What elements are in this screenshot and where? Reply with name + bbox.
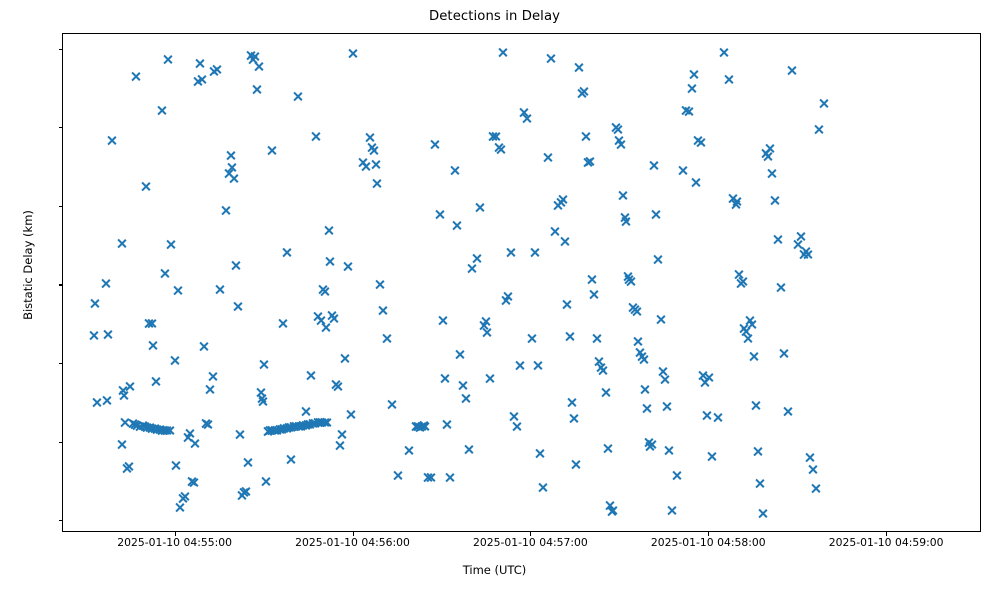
scatter-point [626, 276, 637, 287]
scatter-point [324, 256, 335, 267]
scatter-point [557, 194, 568, 205]
scatter-point [467, 263, 478, 274]
scatter-point [659, 374, 670, 385]
x-tick-label: 2025-01-10 04:56:00 [295, 537, 410, 548]
scatter-point [293, 91, 304, 102]
scatter-point [144, 422, 155, 433]
scatter-point [180, 491, 191, 502]
scatter-point [328, 313, 339, 324]
scatter-point [582, 157, 593, 168]
x-axis-label: Time (UTC) [0, 563, 989, 577]
scatter-point [778, 348, 789, 359]
scatter-point [146, 318, 157, 329]
scatter-point [490, 131, 501, 142]
scatter-point [439, 373, 450, 384]
scatter-point [300, 420, 311, 431]
scatter-point [320, 322, 331, 333]
scatter-point [317, 417, 328, 428]
scatter-point [310, 131, 321, 142]
scatter-point [742, 333, 753, 344]
scatter-point [561, 299, 572, 310]
scatter-point [264, 425, 275, 436]
scatter-point [671, 470, 682, 481]
scatter-point [521, 113, 532, 124]
scatter-point [228, 173, 239, 184]
scatter-point [295, 421, 306, 432]
scatter-point [598, 365, 609, 376]
scatter-point [281, 247, 292, 258]
scatter-point [159, 268, 170, 279]
scatter-point [343, 261, 354, 272]
scatter-point [600, 387, 611, 398]
scatter-point [246, 50, 257, 61]
scatter-point [638, 354, 649, 365]
scatter-point [301, 406, 312, 417]
scatter-point [339, 353, 350, 364]
scatter-point [154, 424, 165, 435]
scatter-point [89, 330, 100, 341]
scatter-point [480, 316, 491, 327]
scatter-point [141, 181, 152, 192]
scatter-point [730, 199, 741, 210]
scatter-point [226, 162, 237, 173]
scatter-point [683, 106, 694, 117]
scatter-point [478, 320, 489, 331]
scatter-point [699, 377, 710, 388]
scatter-point [345, 409, 356, 420]
x-tick-label: 2025-01-10 04:55:00 [117, 537, 232, 548]
scatter-point [224, 168, 235, 179]
scatter-point [319, 286, 330, 297]
scatter-point [805, 452, 816, 463]
scatter-point [305, 370, 316, 381]
scatter-point [149, 423, 160, 434]
scatter-point [121, 463, 132, 474]
scatter-point [751, 400, 762, 411]
scatter-point [744, 315, 755, 326]
scatter-point [589, 289, 600, 300]
scatter-point [165, 239, 176, 250]
scatter-point [646, 439, 657, 450]
scatter-point [818, 98, 829, 109]
scatter-point [701, 410, 712, 421]
scatter-point [753, 446, 764, 457]
scatter-point [602, 443, 613, 454]
scatter-point [237, 490, 248, 501]
scatter-point [498, 47, 509, 58]
scatter-point [615, 139, 626, 150]
scatter-point [258, 359, 269, 370]
scatter-point [644, 441, 655, 452]
scatter-point [643, 437, 654, 448]
scatter-point [787, 65, 798, 76]
scatter-point [596, 362, 607, 373]
scatter-point [368, 145, 379, 156]
scatter-point [276, 424, 287, 435]
figure-canvas: Detections in Delay Bistatic Delay (km) … [0, 0, 989, 590]
scatter-point [302, 419, 313, 430]
scatter-point [564, 331, 575, 342]
scatter-point [511, 421, 522, 432]
scatter-point [772, 234, 783, 245]
scatter-point [221, 205, 232, 216]
y-axis-label: Bistatic Delay (km) [21, 15, 35, 515]
scatter-point [810, 483, 821, 494]
scatter-point [335, 440, 346, 451]
scatter-point [617, 190, 628, 201]
scatter-point [690, 177, 701, 188]
scatter-point [298, 420, 309, 431]
scatter-point [164, 425, 175, 436]
scatter-point [802, 249, 813, 260]
scatter-point [629, 304, 640, 315]
scatter-point [184, 428, 195, 439]
scatter-point [249, 51, 260, 62]
scatter-point [288, 421, 299, 432]
scatter-point [196, 74, 207, 85]
scatter-point [769, 195, 780, 206]
scatter-point [535, 448, 546, 459]
scatter-point [441, 419, 452, 430]
scatter-point [493, 142, 504, 153]
scatter-point [174, 502, 185, 513]
scatter-point [146, 423, 157, 434]
scatter-point [578, 86, 589, 97]
scatter-point [798, 249, 809, 260]
scatter-point [545, 53, 556, 64]
scatter-point [286, 454, 297, 465]
scatter-point [255, 387, 266, 398]
scatter-point [737, 276, 748, 287]
scatter-point [550, 226, 561, 237]
scatter-point [238, 487, 249, 498]
scatter-point [370, 159, 381, 170]
scatter-point [321, 417, 332, 428]
scatter-point [604, 500, 615, 511]
scatter-point [686, 83, 697, 94]
scatter-point [291, 421, 302, 432]
scatter-point [501, 295, 512, 306]
x-tick-label: 2025-01-10 04:57:00 [473, 537, 588, 548]
scatter-point [793, 239, 804, 250]
scatter-point [410, 421, 421, 432]
scatter-point [102, 395, 113, 406]
scatter-point [623, 271, 634, 282]
scatter-point [372, 178, 383, 189]
scatter-point [496, 144, 507, 155]
scatter-point [403, 445, 414, 456]
scatter-point [640, 384, 651, 395]
scatter-point [775, 282, 786, 293]
scatter-point [704, 372, 715, 383]
scatter-point [102, 329, 113, 340]
scatter-point [568, 413, 579, 424]
scatter-point [337, 429, 348, 440]
scatter-point [719, 47, 730, 58]
scatter-point [170, 460, 181, 471]
scatter-point [566, 397, 577, 408]
scatter-point [796, 231, 807, 242]
scatter-point [662, 401, 673, 412]
scatter-point [89, 298, 100, 309]
scatter-point [267, 425, 278, 436]
scatter-point [100, 278, 111, 289]
scatter-point [455, 349, 466, 360]
scatter-point [420, 421, 431, 432]
scatter-point [666, 505, 677, 516]
scatter-point [243, 457, 254, 468]
scatter-point [748, 351, 759, 362]
scatter-point [192, 76, 203, 87]
scatter-point [642, 403, 653, 414]
scatter-point [580, 131, 591, 142]
scatter-point [119, 417, 130, 428]
scatter-point [727, 193, 738, 204]
scatter-point [230, 260, 241, 271]
scatter-point [157, 105, 168, 116]
x-tick-label: 2025-01-10 04:58:00 [651, 537, 766, 548]
scatter-point [636, 351, 647, 362]
x-tick-label: 2025-01-10 04:59:00 [829, 537, 944, 548]
scatter-point [293, 421, 304, 432]
scatter-point [257, 396, 268, 407]
scatter-point [314, 417, 325, 428]
scatter-point [755, 478, 766, 489]
scatter-point [378, 305, 389, 316]
scatter-point [614, 135, 625, 146]
scatter-point [532, 360, 543, 371]
scatter-point [130, 71, 141, 82]
scatter-point [529, 247, 540, 258]
scatter-point [627, 302, 638, 313]
scatter-point [573, 62, 584, 73]
scatter-point [487, 131, 498, 142]
scatter-point [240, 486, 251, 497]
scatter-point [732, 196, 743, 207]
scatter-point [330, 379, 341, 390]
scatter-point [648, 160, 659, 171]
scatter-point [542, 152, 553, 163]
scatter-point [723, 74, 734, 85]
scatter-point [508, 411, 519, 422]
scatter-point [234, 429, 245, 440]
scatter-point [481, 327, 492, 338]
scatter-point [269, 425, 280, 436]
scatter-point [215, 284, 226, 295]
scatter-point [347, 48, 358, 59]
scatter-point [117, 385, 128, 396]
scatter-point [392, 470, 403, 481]
scatter-point [610, 122, 621, 133]
scatter-point [248, 54, 259, 65]
scatter-point [430, 139, 441, 150]
scatter-point [129, 419, 140, 430]
scatter-point [576, 88, 587, 99]
scatter-point [194, 58, 205, 69]
scatter-point [422, 472, 433, 483]
scatter-point [760, 148, 771, 159]
scatter-point [262, 426, 273, 437]
scatter-point [274, 424, 285, 435]
scatter-point [169, 355, 180, 366]
scatter-point [139, 421, 150, 432]
scatter-point [653, 254, 664, 265]
scatter-point [178, 493, 189, 504]
scatter-point [471, 253, 482, 264]
scatter-point [762, 151, 773, 162]
scatter-point [782, 406, 793, 417]
scatter-point [444, 472, 455, 483]
scatter-point [277, 318, 288, 329]
scatter-point [107, 135, 118, 146]
scatter-point [134, 421, 145, 432]
scatter-point [418, 420, 429, 431]
scatter-point [585, 156, 596, 167]
scatter-point [680, 105, 691, 116]
plot-area[interactable] [62, 33, 981, 532]
scatter-point [312, 311, 323, 322]
scatter-point [664, 445, 675, 456]
scatter-point [697, 370, 708, 381]
scatter-point [414, 422, 425, 433]
scatter-point [813, 124, 824, 135]
scatter-point [593, 356, 604, 367]
scatter-point [143, 318, 154, 329]
scatter-point [612, 124, 623, 135]
scatter-point [381, 333, 392, 344]
scatter-point [123, 461, 134, 472]
scatter-point [327, 310, 338, 321]
scatter-point [360, 161, 371, 172]
scatter-point [464, 444, 475, 455]
scatter-point [172, 285, 183, 296]
scatter-point [266, 145, 277, 156]
scatter-point [559, 236, 570, 247]
scatter-point [767, 168, 778, 179]
scatter-point [461, 393, 472, 404]
scatter-point [251, 84, 262, 95]
scatter-point [190, 438, 201, 449]
scatter-point [281, 423, 292, 434]
scatter-point [152, 424, 163, 435]
x-tick-mark [530, 532, 531, 536]
scatter-point [808, 464, 819, 475]
scatter-point [272, 425, 283, 436]
scatter-point [132, 420, 143, 431]
scatter-point [633, 336, 644, 347]
scatter-point [209, 66, 220, 77]
scatter-point [307, 418, 318, 429]
scatter-point [198, 341, 209, 352]
scatter-point [631, 306, 642, 317]
scatter-point [591, 333, 602, 344]
scatter-point [159, 425, 170, 436]
scatter-point [127, 418, 138, 429]
scatter-point [657, 366, 668, 377]
scatter-point [279, 423, 290, 434]
scatter-point [474, 202, 485, 213]
scatter-point [570, 459, 581, 470]
scatter-point [207, 371, 218, 382]
scatter-point [650, 209, 661, 220]
scatter-point [707, 451, 718, 462]
scatter-point [147, 340, 158, 351]
scatter-point [162, 425, 173, 436]
scatter-point [746, 319, 757, 330]
scatter-point [225, 150, 236, 161]
scatter-point [677, 165, 688, 176]
scatter-point [205, 384, 216, 395]
scatter-point [150, 376, 161, 387]
scatter-point [739, 323, 750, 334]
scatter-point [283, 422, 294, 433]
scatter-point [232, 301, 243, 312]
scatter-point [256, 393, 267, 404]
scatter-point [357, 157, 368, 168]
scatter-point [137, 420, 148, 431]
scatter-point [309, 418, 320, 429]
scatter-point [260, 476, 271, 487]
scatter-point [141, 422, 152, 433]
scatter-point [621, 216, 632, 227]
scatter-point [211, 64, 222, 75]
scatter-point [188, 477, 199, 488]
scatter-point [364, 132, 375, 143]
scatter-point [317, 284, 328, 295]
scatter-point [526, 333, 537, 344]
scatter-point [434, 209, 445, 220]
scatter-point [741, 326, 752, 337]
scatter-point [695, 137, 706, 148]
scatter-point [124, 381, 135, 392]
scatter-point [688, 69, 699, 80]
scatter-point [757, 508, 768, 519]
scatter-point [800, 246, 811, 257]
scatter-point [425, 472, 436, 483]
scatter-point [452, 220, 463, 231]
scatter-point [366, 142, 377, 153]
scatter-point [587, 274, 598, 285]
scatter-point [163, 54, 174, 65]
x-tick-mark [353, 532, 354, 536]
scatter-point [733, 269, 744, 280]
x-tick-mark [886, 532, 887, 536]
scatter-point [634, 347, 645, 358]
scatter-point [713, 412, 724, 423]
scatter-point [555, 197, 566, 208]
scatter-point [514, 360, 525, 371]
scatter-point [91, 397, 102, 408]
scatter-point [416, 421, 427, 432]
scatter-point [413, 421, 424, 432]
scatter-point [624, 274, 635, 285]
scatter-point [458, 380, 469, 391]
scatter-point [505, 247, 516, 258]
scatter-point [201, 418, 212, 429]
scatter-point [375, 279, 386, 290]
scatter-point [387, 399, 398, 410]
scatter-point [117, 439, 128, 450]
scatter-point [332, 381, 343, 392]
scatter-point [157, 425, 168, 436]
scatter-point [312, 417, 323, 428]
scatter-point [607, 505, 618, 516]
scatter-point [518, 107, 529, 118]
scatter-point [286, 422, 297, 433]
scatter-point [202, 419, 213, 430]
scatter-point [305, 419, 316, 430]
scatter-point [765, 143, 776, 154]
